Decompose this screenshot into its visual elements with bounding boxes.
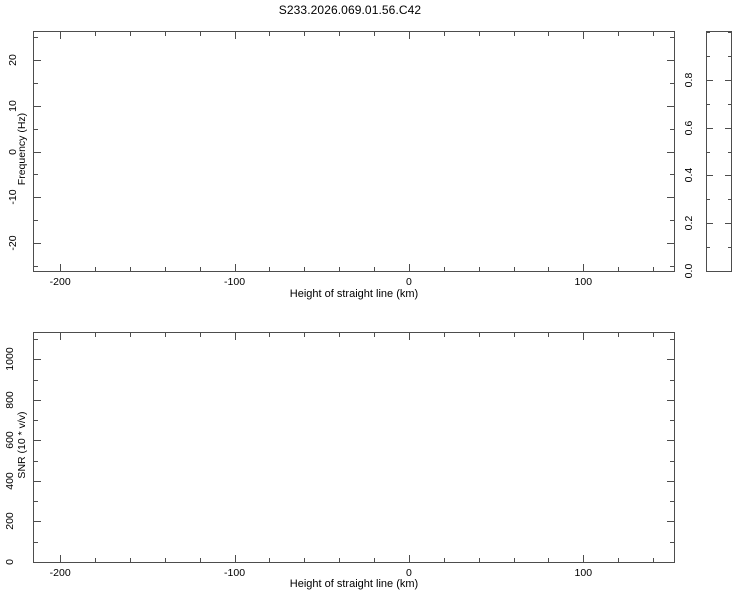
tick-mark: [34, 521, 41, 522]
tick-mark: [444, 333, 445, 337]
tick-mark: [200, 267, 201, 271]
tick-label: 1000: [2, 342, 18, 376]
tick-mark: [34, 174, 38, 175]
tick-mark: [60, 264, 61, 271]
tick-mark: [95, 32, 96, 36]
tick-mark: [34, 129, 38, 130]
tick-mark: [670, 461, 674, 462]
tick-mark: [548, 32, 549, 36]
tick-mark: [707, 247, 710, 248]
tick-label: -200: [30, 567, 90, 579]
tick-mark: [667, 521, 674, 522]
tick-mark: [670, 220, 674, 221]
tick-mark: [670, 380, 674, 381]
tick-mark: [667, 481, 674, 482]
tick-mark: [479, 267, 480, 271]
tick-label: -100: [205, 276, 265, 288]
tick-mark: [707, 199, 710, 200]
tick-label: 0.6: [681, 115, 697, 141]
tick-mark: [409, 333, 410, 340]
tick-mark: [444, 32, 445, 36]
tick-mark: [514, 32, 515, 36]
tick-label: 100: [553, 276, 613, 288]
tick-mark: [165, 32, 166, 36]
tick-mark: [200, 558, 201, 562]
tick-mark: [374, 333, 375, 337]
tick-mark: [667, 440, 674, 441]
tick-mark: [34, 37, 38, 38]
snr-x-axis-title: Height of straight line (km): [183, 578, 525, 590]
tick-mark: [670, 37, 674, 38]
tick-mark: [583, 32, 584, 39]
tick-mark: [479, 558, 480, 562]
tick-mark: [653, 558, 654, 562]
tick-mark: [667, 197, 674, 198]
tick-mark: [670, 174, 674, 175]
tick-mark: [479, 32, 480, 36]
spectrogram-x-axis-title: Height of straight line (km): [183, 288, 525, 300]
tick-mark: [667, 243, 674, 244]
tick-mark: [618, 558, 619, 562]
tick-mark: [725, 80, 731, 81]
tick-label: -200: [30, 276, 90, 288]
tick-mark: [409, 32, 410, 39]
tick-mark: [707, 271, 713, 272]
tick-mark: [444, 558, 445, 562]
tick-mark: [728, 104, 731, 105]
tick-mark: [34, 220, 38, 221]
tick-mark: [130, 32, 131, 36]
tick-mark: [304, 558, 305, 562]
tick-label: 20: [5, 46, 21, 74]
tick-mark: [34, 106, 41, 107]
tick-mark: [479, 333, 480, 337]
tick-mark: [60, 333, 61, 340]
tick-mark: [670, 339, 674, 340]
tick-mark: [618, 267, 619, 271]
tick-mark: [707, 80, 713, 81]
tick-mark: [235, 32, 236, 39]
tick-mark: [95, 333, 96, 337]
tick-mark: [728, 32, 731, 33]
tick-mark: [269, 558, 270, 562]
tick-mark: [235, 333, 236, 340]
tick-mark: [339, 558, 340, 562]
tick-mark: [60, 555, 61, 562]
tick-mark: [667, 562, 674, 563]
tick-mark: [583, 333, 584, 340]
tick-mark: [548, 267, 549, 271]
tick-mark: [34, 359, 41, 360]
tick-label: 0: [379, 276, 439, 288]
tick-mark: [707, 223, 713, 224]
tick-mark: [728, 247, 731, 248]
tick-mark: [667, 60, 674, 61]
tick-mark: [130, 558, 131, 562]
tick-mark: [670, 501, 674, 502]
tick-mark: [653, 333, 654, 337]
tick-mark: [339, 267, 340, 271]
tick-mark: [514, 333, 515, 337]
spectrogram-y-axis-title: Frequency (Hz): [16, 89, 28, 209]
tick-mark: [707, 175, 713, 176]
tick-label: 0.2: [681, 210, 697, 236]
tick-mark: [269, 267, 270, 271]
tick-mark: [409, 555, 410, 562]
tick-mark: [653, 267, 654, 271]
tick-mark: [444, 267, 445, 271]
tick-mark: [725, 271, 731, 272]
tick-mark: [304, 32, 305, 36]
tick-mark: [95, 558, 96, 562]
tick-mark: [670, 83, 674, 84]
tick-mark: [707, 128, 713, 129]
tick-mark: [34, 562, 41, 563]
tick-mark: [34, 197, 41, 198]
tick-mark: [269, 333, 270, 337]
tick-mark: [707, 104, 710, 105]
tick-mark: [725, 223, 731, 224]
tick-mark: [667, 106, 674, 107]
figure-title: S233.2026.069.01.56.C42: [0, 3, 700, 17]
tick-mark: [34, 380, 38, 381]
tick-mark: [667, 359, 674, 360]
snr-y-axis-title: SNR (10 * v/v): [16, 375, 28, 515]
tick-mark: [235, 264, 236, 271]
tick-mark: [618, 333, 619, 337]
tick-mark: [34, 420, 38, 421]
tick-mark: [339, 32, 340, 36]
tick-mark: [339, 333, 340, 337]
tick-mark: [670, 266, 674, 267]
tick-mark: [34, 266, 38, 267]
tick-mark: [548, 333, 549, 337]
tick-label: -20: [5, 229, 21, 257]
figure-root: S233.2026.069.01.56.C42 -200-1000100 201…: [0, 0, 750, 600]
tick-mark: [667, 152, 674, 153]
tick-mark: [670, 129, 674, 130]
tick-mark: [667, 400, 674, 401]
tick-mark: [34, 243, 41, 244]
tick-mark: [725, 128, 731, 129]
tick-mark: [670, 542, 674, 543]
tick-mark: [583, 264, 584, 271]
tick-mark: [200, 333, 201, 337]
tick-mark: [165, 333, 166, 337]
tick-mark: [34, 481, 41, 482]
tick-mark: [95, 267, 96, 271]
snr-frame: [33, 332, 675, 563]
tick-mark: [34, 400, 41, 401]
tick-label: 100: [553, 567, 613, 579]
tick-mark: [548, 558, 549, 562]
tick-mark: [235, 555, 236, 562]
tick-mark: [165, 558, 166, 562]
tick-mark: [670, 420, 674, 421]
spectrogram-frame: [33, 31, 675, 272]
tick-mark: [707, 56, 710, 57]
tick-mark: [514, 267, 515, 271]
tick-mark: [304, 333, 305, 337]
tick-label: 0: [2, 545, 18, 579]
tick-mark: [618, 32, 619, 36]
tick-mark: [34, 461, 38, 462]
tick-mark: [34, 60, 41, 61]
tick-mark: [200, 32, 201, 36]
tick-label: 0.4: [681, 162, 697, 188]
tick-mark: [725, 175, 731, 176]
tick-label: 0.8: [681, 67, 697, 93]
tick-mark: [728, 199, 731, 200]
tick-mark: [653, 32, 654, 36]
tick-mark: [60, 32, 61, 39]
tick-mark: [374, 267, 375, 271]
tick-mark: [374, 32, 375, 36]
tick-mark: [130, 267, 131, 271]
tick-mark: [269, 32, 270, 36]
tick-mark: [34, 542, 38, 543]
tick-mark: [165, 267, 166, 271]
tick-mark: [304, 267, 305, 271]
tick-mark: [34, 83, 38, 84]
tick-mark: [728, 56, 731, 57]
tick-mark: [409, 264, 410, 271]
tick-mark: [34, 339, 38, 340]
tick-mark: [130, 333, 131, 337]
tick-mark: [583, 555, 584, 562]
tick-mark: [514, 558, 515, 562]
tick-mark: [374, 558, 375, 562]
tick-mark: [707, 32, 710, 33]
tick-mark: [34, 501, 38, 502]
tick-label: 0.0: [681, 258, 697, 284]
